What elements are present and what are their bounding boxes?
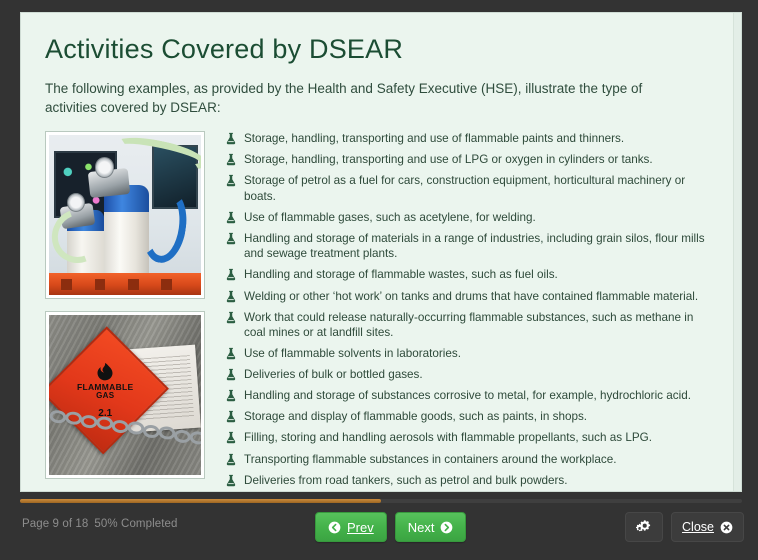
list-item-label: Storage, handling, transporting and use … xyxy=(244,152,711,168)
list-item-label: Work that could release naturally-occurr… xyxy=(244,310,711,341)
flask-icon xyxy=(225,347,237,360)
placard-label: FLAMMABLE xyxy=(77,383,134,392)
settings-button[interactable] xyxy=(625,512,663,542)
flask-icon xyxy=(225,311,237,324)
list-item: Filling, storing and handling aerosols w… xyxy=(225,430,711,446)
close-button-label: Close xyxy=(682,520,714,534)
flask-icon xyxy=(225,232,237,245)
list-item-label: Storage of petrol as a fuel for cars, co… xyxy=(244,173,711,204)
slide-scrollbar[interactable] xyxy=(733,13,741,491)
intro-paragraph: The following examples, as provided by t… xyxy=(45,79,695,117)
flask-icon xyxy=(225,153,237,166)
activities-list: Storage, handling, transporting and use … xyxy=(211,129,711,492)
list-item: Deliveries of bulk or bottled gases. xyxy=(225,367,711,383)
next-button[interactable]: Next xyxy=(395,512,467,542)
list-item-label: Filling, storing and handling aerosols w… xyxy=(244,430,711,446)
list-item-label: Storage, handling, transporting and use … xyxy=(244,131,711,147)
flask-icon xyxy=(225,132,237,145)
list-item: Storage, handling, transporting and use … xyxy=(225,131,711,147)
flammable-gas-placard-photo: FLAMMABLE GAS 2.1 xyxy=(45,311,205,479)
page-number-label: Page 9 of 18 xyxy=(22,518,88,530)
list-item: Handling and storage of substances corro… xyxy=(225,388,711,404)
next-button-label: Next xyxy=(408,520,435,535)
slide-body: FLAMMABLE GAS 2.1 xyxy=(45,129,711,492)
close-circle-icon xyxy=(720,521,733,534)
completion-label: 50% Completed xyxy=(94,518,177,530)
player-tool-buttons: Close xyxy=(625,512,744,542)
close-button[interactable]: Close xyxy=(671,512,744,542)
chevron-left-circle-icon xyxy=(328,521,341,534)
flask-icon xyxy=(225,431,237,444)
flame-icon xyxy=(94,362,116,382)
list-item: Welding or other ‘hot work’ on tanks and… xyxy=(225,289,711,305)
list-item: Storage and display of flammable goods, … xyxy=(225,409,711,425)
progress-bar-fill xyxy=(20,499,381,503)
list-item: Use of flammable solvents in laboratorie… xyxy=(225,346,711,362)
list-item-label: Handling and storage of materials in a r… xyxy=(244,231,711,262)
player-control-bar: Page 9 of 1850% Completed Prev Next xyxy=(0,494,758,560)
list-item: Handling and storage of materials in a r… xyxy=(225,231,711,262)
flask-icon xyxy=(225,453,237,466)
list-item-label: Deliveries of bulk or bottled gases. xyxy=(244,367,711,383)
flask-icon xyxy=(225,368,237,381)
list-item-label: Welding or other ‘hot work’ on tanks and… xyxy=(244,289,711,305)
flask-icon xyxy=(225,389,237,402)
flask-icon xyxy=(225,410,237,423)
list-item: Storage, handling, transporting and use … xyxy=(225,152,711,168)
list-item-label: Handling and storage of flammable wastes… xyxy=(244,267,711,283)
slide-panel: Activities Covered by DSEAR The followin… xyxy=(20,12,742,492)
page-status: Page 9 of 1850% Completed xyxy=(22,518,178,530)
flask-icon xyxy=(225,268,237,281)
chevron-right-circle-icon xyxy=(440,521,453,534)
list-item-label: Use of flammable gases, such as acetylen… xyxy=(244,210,711,226)
flask-icon xyxy=(225,474,237,487)
image-column: FLAMMABLE GAS 2.1 xyxy=(45,129,211,491)
list-item: Storage of petrol as a fuel for cars, co… xyxy=(225,173,711,204)
list-item: Handling and storage of flammable wastes… xyxy=(225,267,711,283)
list-item-label: Deliveries from road tankers, such as pe… xyxy=(244,473,711,489)
prev-button[interactable]: Prev xyxy=(315,512,387,542)
list-item: Work that could release naturally-occurr… xyxy=(225,310,711,341)
list-item-label: Use of flammable solvents in laboratorie… xyxy=(244,346,711,362)
list-item: Deliveries from road tankers, such as pe… xyxy=(225,473,711,489)
flask-icon xyxy=(225,211,237,224)
progress-bar-track[interactable] xyxy=(20,499,742,503)
course-player: Activities Covered by DSEAR The followin… xyxy=(0,0,758,560)
list-item-label: Storage and display of flammable goods, … xyxy=(244,409,711,425)
prev-button-label: Prev xyxy=(347,520,374,535)
placard-label-sub: GAS xyxy=(96,392,114,400)
list-item: Transporting flammable substances in con… xyxy=(225,452,711,468)
gas-cylinders-photo xyxy=(45,131,205,299)
list-item-label: Handling and storage of substances corro… xyxy=(244,388,711,404)
list-item-label: Transporting flammable substances in con… xyxy=(244,452,711,468)
flask-icon xyxy=(225,290,237,303)
navigation-buttons: Prev Next xyxy=(315,512,466,542)
cogs-icon xyxy=(636,519,652,535)
flask-icon xyxy=(225,174,237,187)
page-title: Activities Covered by DSEAR xyxy=(45,35,711,65)
list-item: Use of flammable gases, such as acetylen… xyxy=(225,210,711,226)
slide-content: Activities Covered by DSEAR The followin… xyxy=(21,13,735,491)
